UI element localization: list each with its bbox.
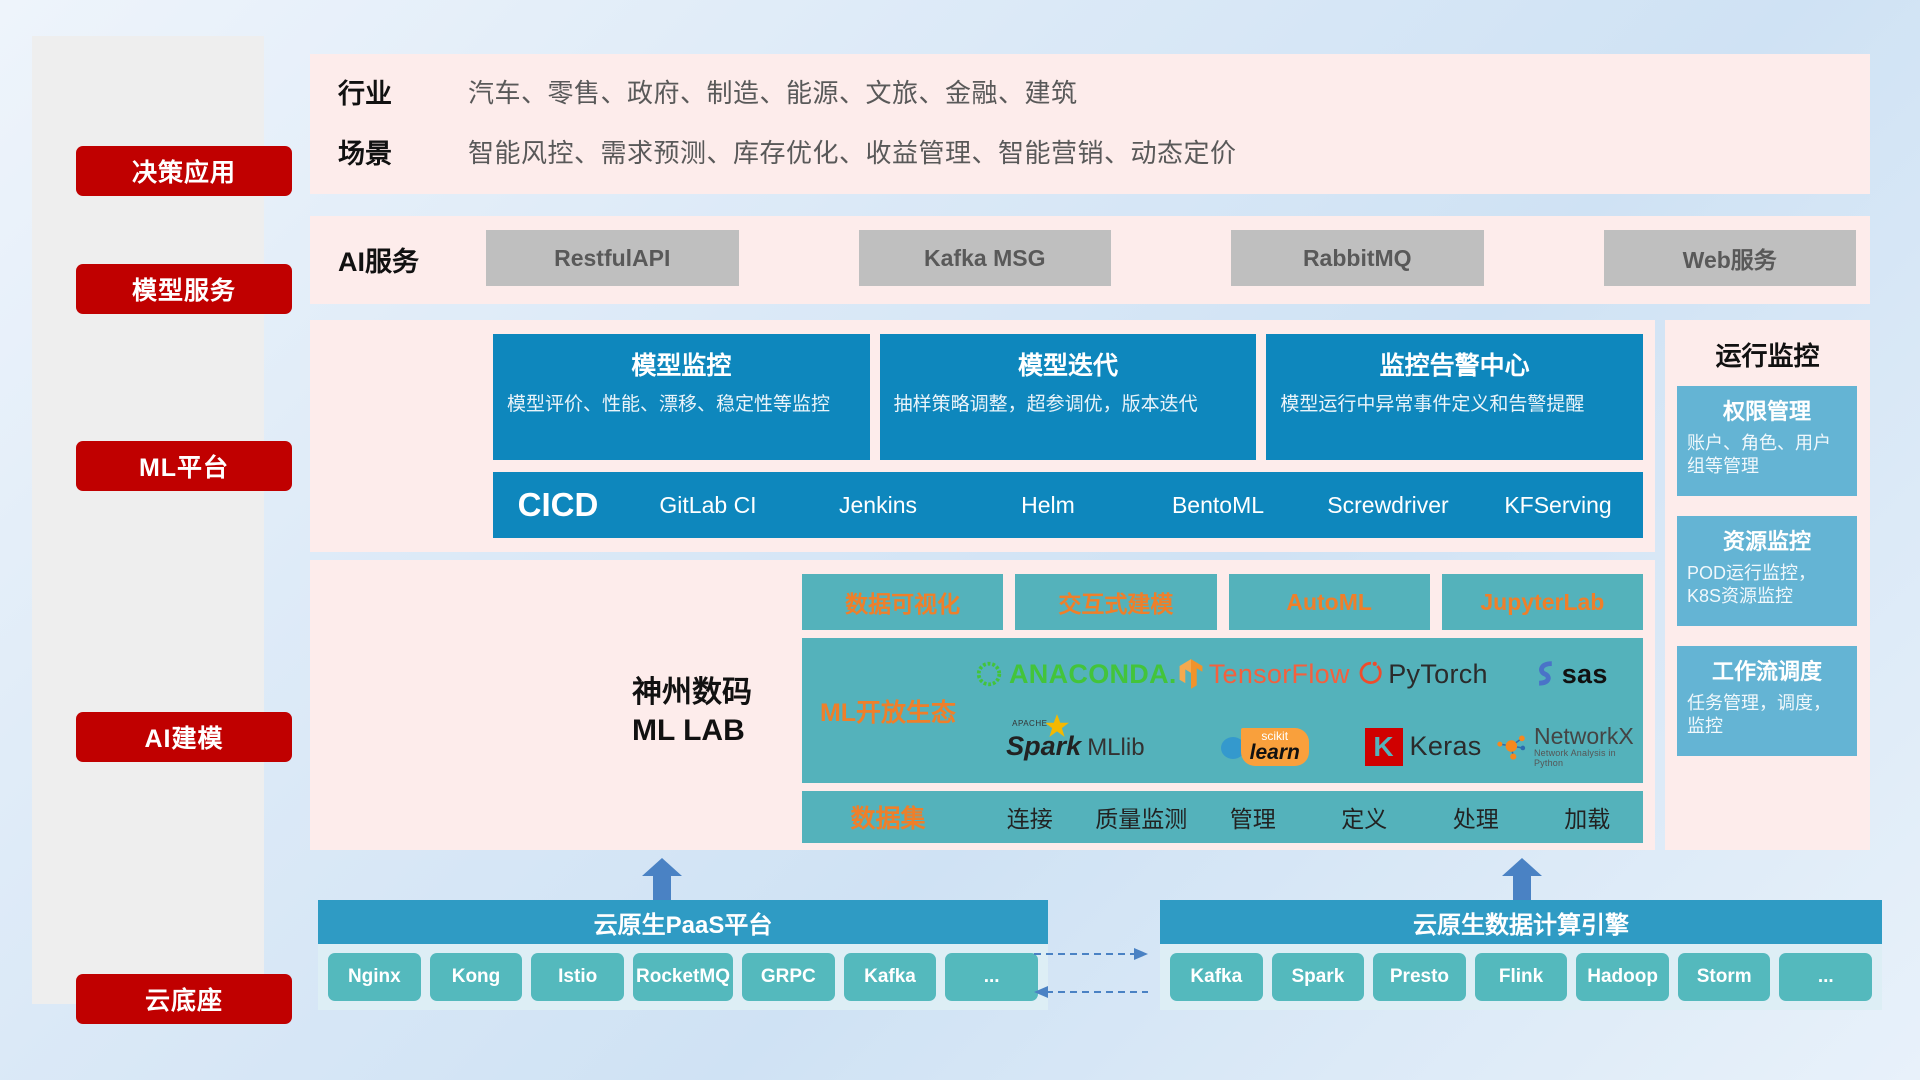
data-chip-hadoop[interactable]: Hadoop <box>1576 953 1669 1001</box>
dataset-item-manage[interactable]: 管理 <box>1197 800 1309 834</box>
cloud-chip-rocketmq[interactable]: RocketMQ <box>633 953 733 1001</box>
decision-application-panel: 行业 汽车、零售、政府、制造、能源、文旅、金融、建筑 场景 智能风控、需求预测、… <box>310 54 1870 194</box>
cicd-title: CICD <box>493 486 623 524</box>
keras-logo-text: Keras <box>1410 731 1482 762</box>
cicd-item-gitlab-ci[interactable]: GitLab CI <box>623 494 793 517</box>
dataset-item-load[interactable]: 加载 <box>1532 800 1644 834</box>
dataset-item-define[interactable]: 定义 <box>1309 800 1421 834</box>
rail-item-ai-modeling[interactable]: AI建模 <box>76 712 292 762</box>
mllib-logo-text: MLlib <box>1087 734 1144 762</box>
scenario-value: 智能风控、需求预测、库存优化、收益管理、智能营销、动态定价 <box>468 133 1237 170</box>
networkx-graph-icon <box>1496 731 1529 763</box>
ml-open-ecosystem: ML开放生态 ANACONDA. TensorFlow <box>802 638 1643 783</box>
industry-label: 行业 <box>338 72 468 111</box>
mlops-panel: MLOps 模型监控 模型评价、性能、漂移、稳定性等监控 模型迭代 抽样策略调整… <box>310 320 1655 552</box>
card-desc: 账户、角色、用户组等管理 <box>1687 432 1847 479</box>
cicd-item-screwdriver[interactable]: Screwdriver <box>1303 494 1473 517</box>
cloud-chip-kafka[interactable]: Kafka <box>844 953 937 1001</box>
data-chip-flink[interactable]: Flink <box>1475 953 1568 1001</box>
card-title: 资源监控 <box>1687 524 1847 556</box>
layer-rail: 决策应用 模型服务 ML平台 AI建模 云底座 <box>32 36 264 1004</box>
networkx-logo: NetworkX Network Analysis in Python <box>1496 725 1643 768</box>
mlops-card-model-monitoring[interactable]: 模型监控 模型评价、性能、漂移、稳定性等监控 <box>493 334 870 460</box>
dataset-item-connect[interactable]: 连接 <box>974 800 1086 834</box>
tool-interactive-modeling[interactable]: 交互式建模 <box>1015 574 1216 630</box>
cloud-chip-kong[interactable]: Kong <box>430 953 523 1001</box>
runtime-monitoring-panel: 运行监控 权限管理 账户、角色、用户组等管理 资源监控 POD运行监控，K8S资… <box>1665 320 1870 850</box>
keras-mark-icon: K <box>1365 728 1403 766</box>
tool-data-visualization[interactable]: 数据可视化 <box>802 574 1003 630</box>
cloud-paas-title: 云原生PaaS平台 <box>318 900 1048 944</box>
rail-item-model-service[interactable]: 模型服务 <box>76 264 292 314</box>
rail-item-label: 模型服务 <box>132 271 236 307</box>
spark-apache-text: APACHE <box>1012 719 1047 728</box>
data-chip-presto[interactable]: Presto <box>1373 953 1466 1001</box>
ml-lab-label-line1: 神州数码 <box>632 674 752 712</box>
tensorflow-logo: TensorFlow <box>1177 658 1350 690</box>
mlops-card-alert-center[interactable]: 监控告警中心 模型运行中异常事件定义和告警提醒 <box>1266 334 1643 460</box>
spark-star-icon <box>1044 713 1070 739</box>
bidirectional-connector <box>1030 940 1150 1010</box>
ai-service-chip-restfulapi[interactable]: RestfulAPI <box>486 230 739 286</box>
scikit-learn-badge: scikit learn <box>1241 728 1309 766</box>
rail-item-label: AI建模 <box>144 719 223 755</box>
pytorch-logo: PyTorch <box>1358 659 1488 690</box>
card-title: 权限管理 <box>1687 394 1847 426</box>
ai-modeling-panel: 神州数码 ML LAB 数据可视化 交互式建模 AutoML JupyterLa… <box>310 560 1655 850</box>
spark-mllib-logo: APACHE Spark MLlib <box>1006 731 1144 762</box>
sas-logo: sas <box>1532 659 1608 690</box>
tensorflow-mark-icon <box>1177 658 1205 690</box>
rail-item-decision-app[interactable]: 决策应用 <box>76 146 292 196</box>
dataset-item-quality-monitoring[interactable]: 质量监测 <box>1086 800 1198 834</box>
cicd-bar: CICD GitLab CI Jenkins Helm BentoML Scre… <box>493 472 1643 538</box>
tool-automl[interactable]: AutoML <box>1229 574 1430 630</box>
monitoring-card-workflow[interactable]: 工作流调度 任务管理，调度，监控 <box>1677 646 1857 756</box>
cloud-chip-grpc[interactable]: GRPC <box>742 953 835 1001</box>
cicd-item-kfserving[interactable]: KFServing <box>1473 494 1643 517</box>
data-chip-storm[interactable]: Storm <box>1678 953 1771 1001</box>
ai-service-chip-rabbitmq[interactable]: RabbitMQ <box>1231 230 1484 286</box>
card-title: 监控告警中心 <box>1280 346 1629 382</box>
ml-open-ecosystem-label: ML开放生态 <box>802 693 974 729</box>
pytorch-logo-text: PyTorch <box>1388 659 1488 690</box>
rail-item-label: 云底座 <box>145 981 223 1017</box>
data-chip-spark[interactable]: Spark <box>1272 953 1365 1001</box>
networkx-logo-text: NetworkX <box>1534 725 1643 748</box>
sas-mark-icon <box>1532 659 1560 689</box>
ecosystem-logo-grid: ANACONDA. TensorFlow PyTorch <box>974 638 1643 783</box>
card-desc: 模型评价、性能、漂移、稳定性等监控 <box>507 392 856 418</box>
card-desc: 抽样策略调整，超参调优，版本迭代 <box>894 392 1243 418</box>
scenario-row: 场景 智能风控、需求预测、库存优化、收益管理、智能营销、动态定价 <box>338 132 1850 171</box>
scikit-learn-logo: scikit learn <box>1218 728 1309 766</box>
ai-service-chip-web-service[interactable]: Web服务 <box>1604 230 1857 286</box>
arrow-up-paas-icon <box>640 858 684 900</box>
card-title: 工作流调度 <box>1687 654 1847 686</box>
anaconda-mark-icon <box>974 659 1004 689</box>
ml-lab-label-line2: ML LAB <box>632 712 752 750</box>
monitoring-card-permissions[interactable]: 权限管理 账户、角色、用户组等管理 <box>1677 386 1857 496</box>
arrow-up-data-engine-icon <box>1500 858 1544 900</box>
learn-text: learn <box>1250 742 1300 763</box>
cloud-paas-group: 云原生PaaS平台 Nginx Kong Istio RocketMQ GRPC… <box>318 900 1048 1010</box>
cicd-item-helm[interactable]: Helm <box>963 494 1133 517</box>
networkx-subtitle: Network Analysis in Python <box>1534 748 1643 768</box>
cloud-chip-more[interactable]: ... <box>945 953 1038 1001</box>
data-chip-kafka[interactable]: Kafka <box>1170 953 1263 1001</box>
card-title: 模型监控 <box>507 346 856 382</box>
card-title: 模型迭代 <box>894 346 1243 382</box>
rail-item-label: 决策应用 <box>132 153 236 189</box>
cloud-data-engine-chip-list: Kafka Spark Presto Flink Hadoop Storm ..… <box>1160 944 1882 1010</box>
ai-service-chip-kafka-msg[interactable]: Kafka MSG <box>859 230 1112 286</box>
modeling-tool-list: 数据可视化 交互式建模 AutoML JupyterLab <box>802 574 1643 630</box>
dataset-bar: 数据集 连接 质量监测 管理 定义 处理 加载 <box>802 791 1643 843</box>
cicd-item-bentoml[interactable]: BentoML <box>1133 494 1303 517</box>
sas-logo-text: sas <box>1562 659 1608 690</box>
pytorch-mark-icon <box>1358 659 1384 689</box>
ai-service-chip-list: RestfulAPI Kafka MSG RabbitMQ Web服务 <box>486 230 1856 286</box>
dataset-item-process[interactable]: 处理 <box>1420 800 1532 834</box>
rail-item-ml-platform[interactable]: ML平台 <box>76 441 292 491</box>
monitoring-card-resources[interactable]: 资源监控 POD运行监控，K8S资源监控 <box>1677 516 1857 626</box>
cloud-data-engine-group: 云原生数据计算引擎 Kafka Spark Presto Flink Hadoo… <box>1160 900 1882 1010</box>
tensorflow-logo-text: TensorFlow <box>1209 659 1350 690</box>
cicd-item-jenkins[interactable]: Jenkins <box>793 494 963 517</box>
cloud-paas-chip-list: Nginx Kong Istio RocketMQ GRPC Kafka ... <box>318 944 1048 1010</box>
ml-lab-label: 神州数码 ML LAB <box>632 674 752 749</box>
ai-service-panel: AI服务 RestfulAPI Kafka MSG RabbitMQ Web服务 <box>310 216 1870 304</box>
rail-item-cloud-base[interactable]: 云底座 <box>76 974 292 1024</box>
keras-logo: K Keras <box>1365 728 1482 766</box>
industry-row: 行业 汽车、零售、政府、制造、能源、文旅、金融、建筑 <box>338 72 1850 111</box>
scikit-text: scikit <box>1250 730 1300 742</box>
mlops-card-list: 模型监控 模型评价、性能、漂移、稳定性等监控 模型迭代 抽样策略调整，超参调优，… <box>493 334 1643 460</box>
rail-item-label: ML平台 <box>139 448 229 484</box>
tool-jupyterlab[interactable]: JupyterLab <box>1442 574 1643 630</box>
cloud-chip-nginx[interactable]: Nginx <box>328 953 421 1001</box>
card-desc: 任务管理，调度，监控 <box>1687 692 1847 739</box>
architecture-diagram: 决策应用 模型服务 ML平台 AI建模 云底座 行业 汽车、零售、政府、制造、能… <box>0 0 1920 1080</box>
industry-value: 汽车、零售、政府、制造、能源、文旅、金融、建筑 <box>468 73 1078 110</box>
data-chip-more[interactable]: ... <box>1779 953 1872 1001</box>
anaconda-logo-text: ANACONDA. <box>1009 659 1177 690</box>
runtime-monitoring-title: 运行监控 <box>1665 336 1870 373</box>
anaconda-logo: ANACONDA. <box>974 659 1177 690</box>
scenario-label: 场景 <box>338 132 468 171</box>
card-desc: POD运行监控，K8S资源监控 <box>1687 562 1847 609</box>
cloud-data-engine-title: 云原生数据计算引擎 <box>1160 900 1882 944</box>
mlops-card-model-iteration[interactable]: 模型迭代 抽样策略调整，超参调优，版本迭代 <box>880 334 1257 460</box>
card-desc: 模型运行中异常事件定义和告警提醒 <box>1280 392 1629 418</box>
cloud-chip-istio[interactable]: Istio <box>531 953 624 1001</box>
ai-service-label: AI服务 <box>338 240 419 279</box>
dataset-title: 数据集 <box>802 799 974 835</box>
